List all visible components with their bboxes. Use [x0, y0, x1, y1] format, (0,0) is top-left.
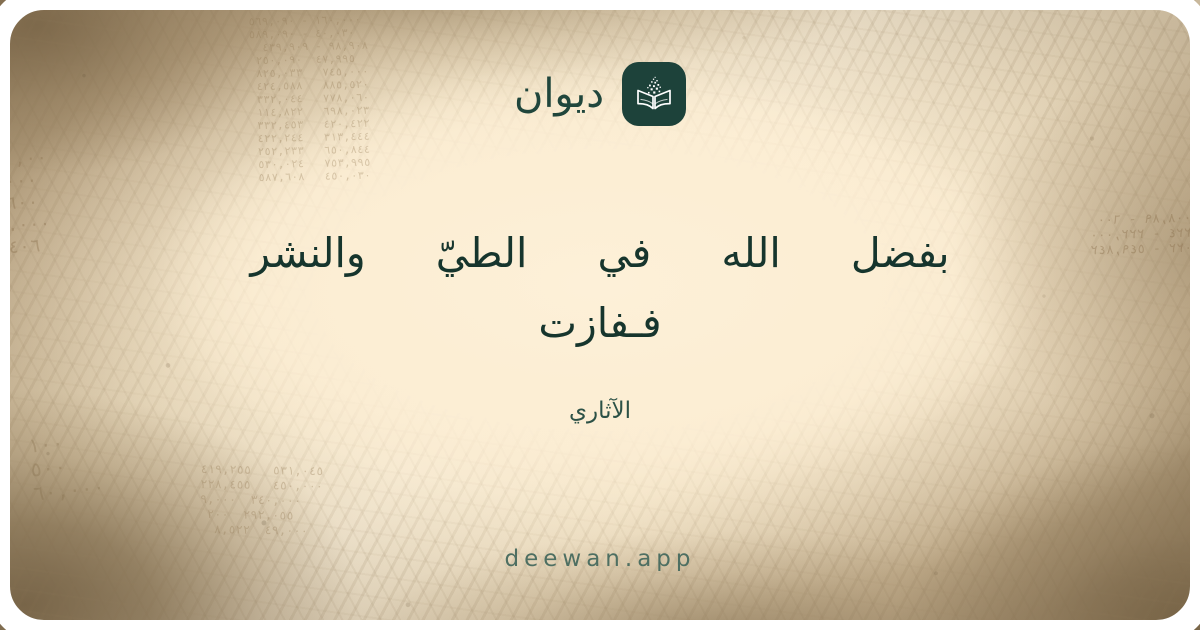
brand-name: ديوان: [514, 74, 604, 114]
share-card: ١٦٠,٠٠٠ - ٥٦٩,٠٩٠ ٤٠,٠٣٠ - ٥٨٩,٠٩٠ ٩٨,٩٠…: [0, 0, 1200, 630]
verse-line-2: فـفازت: [160, 288, 1040, 358]
poet-name: الآثاري: [569, 398, 631, 424]
verse-text: بفضل الله في الطيّ والنشر فـفازت: [160, 218, 1040, 358]
verse-line-1: بفضل الله في الطيّ والنشر: [160, 218, 1040, 288]
open-book-sparkles-icon: [634, 74, 674, 114]
brand-lockup: ديوان: [514, 62, 686, 126]
card-content: ديوان بفضل الله في الطيّ والنشر فـفازت ا…: [0, 0, 1200, 630]
deewan-logo: [622, 62, 686, 126]
